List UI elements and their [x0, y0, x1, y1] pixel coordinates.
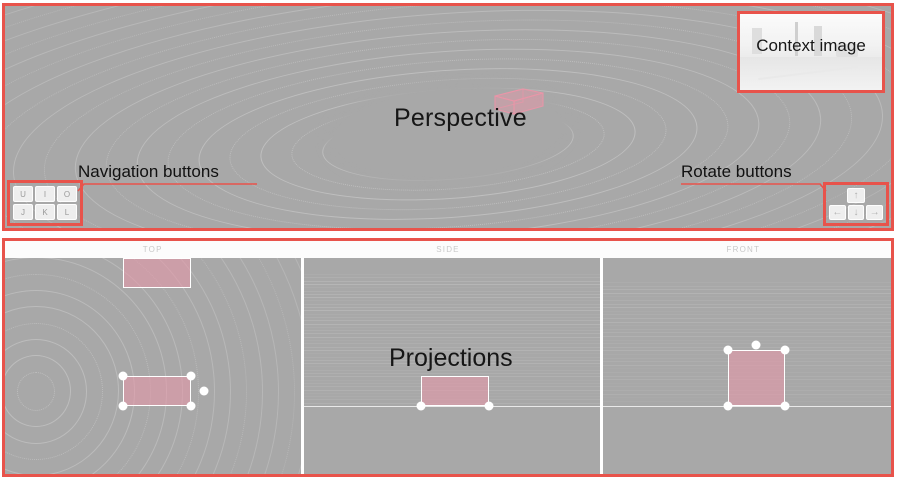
lidar-scanline	[603, 293, 891, 294]
lidar-scanline	[603, 325, 891, 326]
rotate-row-top: ↑	[828, 187, 884, 204]
box-handle-top-se[interactable]	[187, 402, 196, 411]
box-handle-front-ne[interactable]	[781, 346, 790, 355]
side-ground-line	[304, 406, 600, 407]
lidar-scanline	[603, 343, 891, 344]
navigation-row-bottom: J K L	[12, 203, 78, 221]
arrow-left-icon[interactable]: ←	[829, 205, 846, 220]
box-handle-front-sw[interactable]	[724, 402, 733, 411]
context-image-label: Context image	[740, 36, 882, 56]
lidar-scanline	[304, 281, 600, 282]
lidar-scanline	[603, 347, 891, 348]
context-image-panel[interactable]: Context image	[737, 11, 885, 93]
lidar-scanline	[304, 304, 600, 305]
box-handle-front-top[interactable]	[752, 341, 761, 350]
lidar-arc	[5, 258, 301, 474]
lidar-scanline	[603, 332, 891, 333]
box-handle-top-nw[interactable]	[119, 372, 128, 381]
arrow-right-icon[interactable]: →	[866, 205, 883, 220]
lidar-scanline	[304, 310, 600, 311]
lidar-scanline	[304, 324, 600, 325]
projections-header: TOP SIDE FRONT	[5, 241, 891, 258]
lidar-scanline	[603, 282, 891, 283]
arrow-up-icon[interactable]: ↑	[847, 188, 865, 203]
projections-view-label: Projections	[389, 344, 513, 373]
bounding-box-top-rect[interactable]	[123, 376, 191, 406]
lidar-scanline	[304, 333, 600, 334]
lidar-scanline	[603, 340, 891, 341]
perspective-view-label: Perspective	[394, 104, 527, 133]
navigation-row-top: U I O	[12, 185, 78, 203]
box-handle-side-sw[interactable]	[417, 402, 426, 411]
lidar-scanline	[304, 340, 600, 341]
lidar-scanline	[603, 336, 891, 337]
box-handle-front-se[interactable]	[781, 402, 790, 411]
lidar-scanline	[304, 320, 600, 321]
navigation-buttons-callout-label: Navigation buttons	[78, 162, 219, 182]
projection-header-top: TOP	[5, 241, 300, 258]
front-ground-line	[603, 406, 891, 407]
nav-key-i[interactable]: I	[35, 186, 55, 202]
projection-header-front: FRONT	[596, 241, 891, 258]
lidar-scanline	[304, 277, 600, 278]
nav-key-o[interactable]: O	[57, 186, 77, 202]
lidar-scanline	[304, 314, 600, 315]
lidar-scanline	[603, 329, 891, 330]
bounding-box-front[interactable]	[728, 350, 785, 406]
nav-key-j[interactable]: J	[13, 204, 33, 220]
lidar-scanline	[603, 304, 891, 305]
lidar-scanline	[304, 300, 600, 301]
lidar-scanline	[603, 318, 891, 319]
lidar-scanline	[304, 337, 600, 338]
lidar-scanline	[603, 314, 891, 315]
lidar-scanline	[304, 327, 600, 328]
bounding-box-top[interactable]	[123, 258, 191, 288]
lidar-scanline	[603, 307, 891, 308]
lidar-scanline	[603, 286, 891, 287]
lidar-scanline	[603, 300, 891, 301]
lidar-scanline	[304, 294, 600, 295]
nav-key-u[interactable]: U	[13, 186, 33, 202]
lidar-scanline	[304, 287, 600, 288]
lidar-scanline	[304, 317, 600, 318]
lidar-scanline	[603, 289, 891, 290]
rotate-row-bottom: ← ↓ →	[828, 204, 884, 221]
navigation-buttons-group[interactable]: U I O J K L	[7, 180, 83, 226]
lidar-scanline	[304, 373, 600, 374]
box-handle-top-ne[interactable]	[187, 372, 196, 381]
lidar-scanline	[304, 291, 600, 292]
nav-key-l[interactable]: L	[57, 204, 77, 220]
rotate-buttons-group[interactable]: ↑ ← ↓ →	[823, 182, 889, 226]
lidar-scanline	[304, 297, 600, 298]
projection-view-front[interactable]	[603, 258, 891, 474]
box-handle-side-se[interactable]	[485, 402, 494, 411]
lidar-annotation-tool: Perspective Context image U I O J K L	[0, 0, 900, 480]
arrow-down-icon[interactable]: ↓	[848, 205, 865, 220]
lidar-scanline	[304, 284, 600, 285]
lidar-scanline	[304, 307, 600, 308]
lidar-scanline	[304, 274, 600, 275]
lidar-scanline	[603, 322, 891, 323]
lidar-scanline	[603, 296, 891, 297]
box-handle-front-nw[interactable]	[724, 346, 733, 355]
box-handle-top-sw[interactable]	[119, 402, 128, 411]
rotate-buttons-callout-label: Rotate buttons	[681, 162, 792, 182]
lidar-scanline	[603, 311, 891, 312]
bounding-box-side[interactable]	[421, 376, 489, 406]
projection-header-side: SIDE	[300, 241, 595, 258]
lidar-scanline	[304, 330, 600, 331]
projection-view-top[interactable]	[5, 258, 301, 474]
nav-key-k[interactable]: K	[35, 204, 55, 220]
perspective-viewport[interactable]: Perspective Context image U I O J K L	[2, 3, 894, 231]
box-handle-top-heading[interactable]	[200, 387, 209, 396]
